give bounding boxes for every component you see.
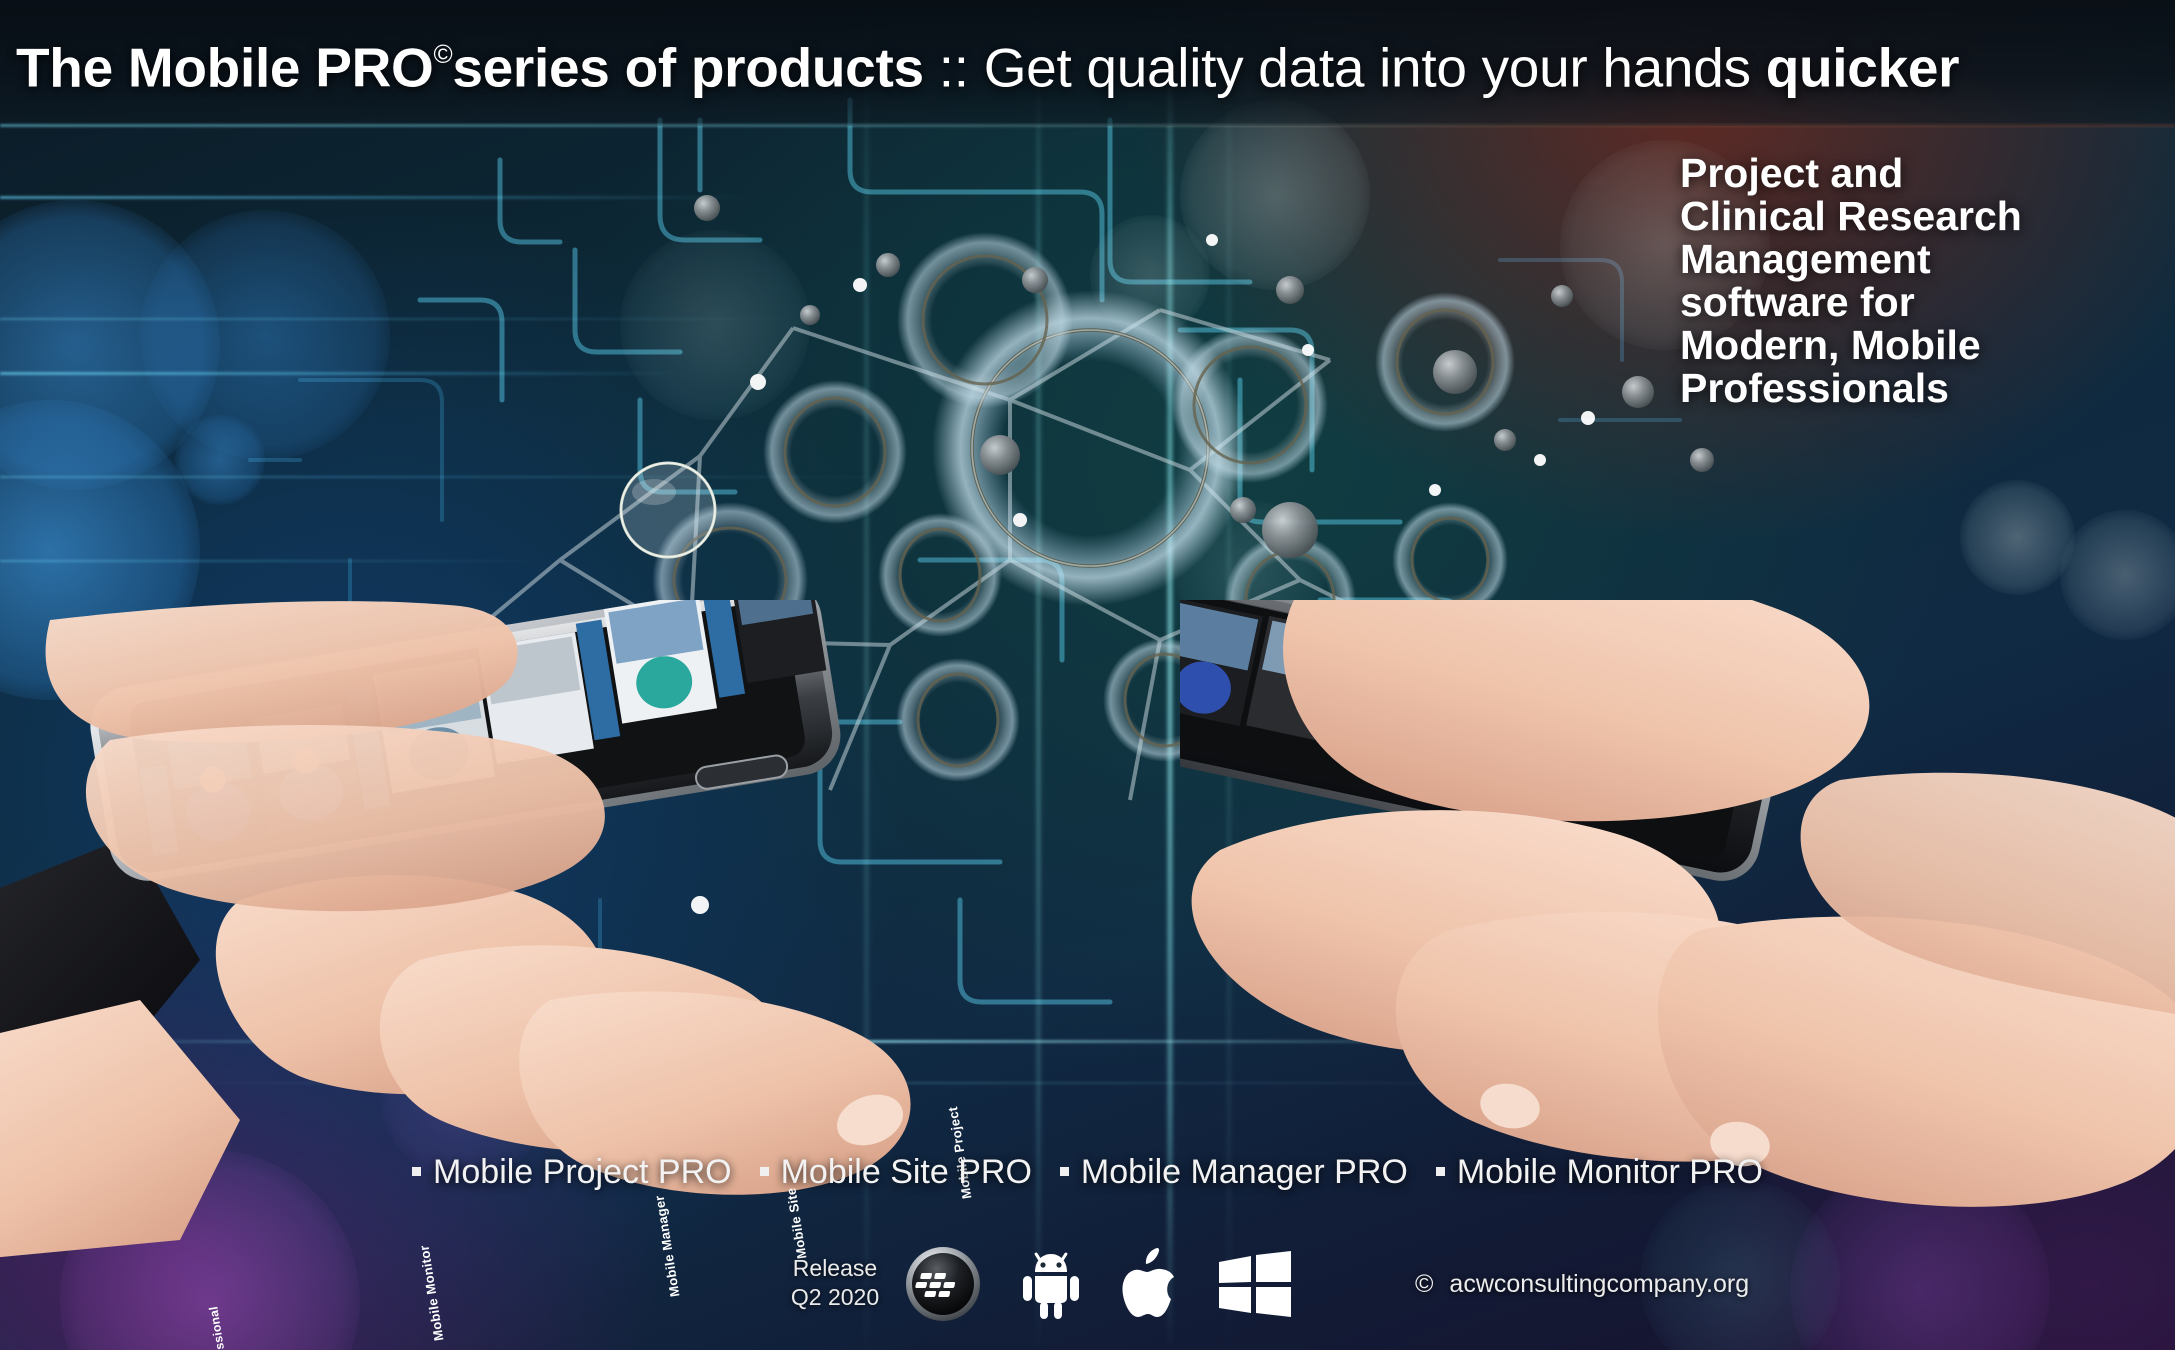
bullet-icon xyxy=(1436,1167,1445,1176)
android-icon xyxy=(1015,1248,1087,1320)
right-hand-holding-phone xyxy=(1180,600,2175,1350)
tagline-line-1: Project and xyxy=(1680,152,2150,195)
copyright-notice: © acwconsultingcompany.org xyxy=(1415,1268,1749,1300)
bullet-icon xyxy=(1060,1167,1069,1176)
product-label: Mobile Site PRO xyxy=(781,1153,1032,1191)
bullet-icon xyxy=(412,1167,421,1176)
product-item-mobile-site-pro: Mobile Site PRO xyxy=(760,1150,1032,1194)
headline-separator: :: xyxy=(924,36,984,98)
windows-icon xyxy=(1217,1251,1293,1317)
tagline-line-6: Professionals xyxy=(1680,367,2150,410)
platform-icons xyxy=(905,1240,1293,1328)
magnifier-bubble-icon xyxy=(616,458,720,562)
headline-divider xyxy=(0,124,2175,127)
product-label: Mobile Manager PRO xyxy=(1081,1153,1408,1191)
headline-part2: series of products xyxy=(452,36,923,98)
promo-slide: PRO-fessional Mobile Monitor Mobile Mana… xyxy=(0,0,2175,1350)
product-item-mobile-manager-pro: Mobile Manager PRO xyxy=(1060,1150,1408,1194)
release-info: Release Q2 2020 xyxy=(780,1254,890,1312)
product-label: Mobile Project PRO xyxy=(433,1153,732,1191)
product-item-mobile-project-pro: Mobile Project PRO xyxy=(412,1150,732,1194)
website-label[interactable]: acwconsultingcompany.org xyxy=(1449,1268,1749,1300)
release-quarter: Q2 2020 xyxy=(780,1283,890,1312)
tagline-block: Project and Clinical Research Management… xyxy=(1680,152,2150,410)
product-label: Mobile Monitor PRO xyxy=(1457,1153,1763,1191)
release-label: Release xyxy=(780,1254,890,1283)
copyright-symbol: © xyxy=(1415,1268,1433,1300)
headline-part4: quicker xyxy=(1766,36,1960,98)
product-list: Mobile Project PROMobile Site PROMobile … xyxy=(0,1150,2175,1194)
headline-part1: The Mobile PRO xyxy=(16,36,434,98)
bullet-icon xyxy=(760,1167,769,1176)
headline-part3: Get quality data into your hands xyxy=(984,36,1766,98)
headline-copyright-mark: © xyxy=(434,39,453,69)
blackberry-icon xyxy=(905,1246,981,1322)
tagline-line-3: Management xyxy=(1680,238,2150,281)
tagline-line-2: Clinical Research xyxy=(1680,195,2150,238)
tagline-line-4: software for xyxy=(1680,281,2150,324)
apple-icon xyxy=(1121,1247,1183,1321)
page-title: The Mobile PRO©series of products :: Get… xyxy=(16,22,2166,94)
tagline-line-5: Modern, Mobile xyxy=(1680,324,2150,367)
product-item-mobile-monitor-pro: Mobile Monitor PRO xyxy=(1436,1150,1763,1194)
left-hand-holding-phone xyxy=(0,600,1120,1350)
